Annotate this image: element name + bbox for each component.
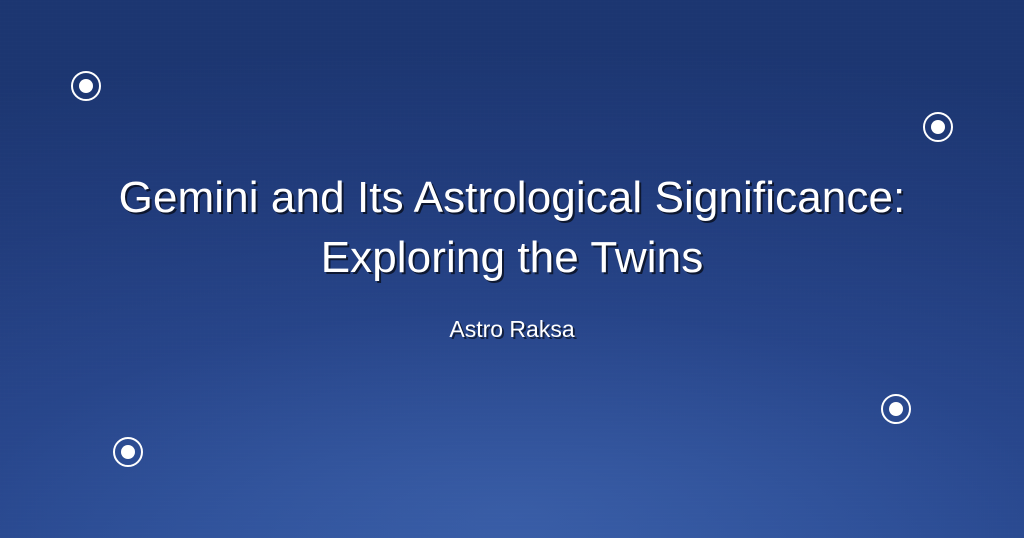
- slide-content: Gemini and Its Astrological Significance…: [0, 0, 1024, 538]
- presentation-slide: Gemini and Its Astrological Significance…: [0, 0, 1024, 538]
- slide-subtitle: Astro Raksa: [42, 288, 982, 344]
- slide-title: Gemini and Its Astrological Significance…: [42, 168, 982, 288]
- title-block: Gemini and Its Astrological Significance…: [42, 168, 982, 344]
